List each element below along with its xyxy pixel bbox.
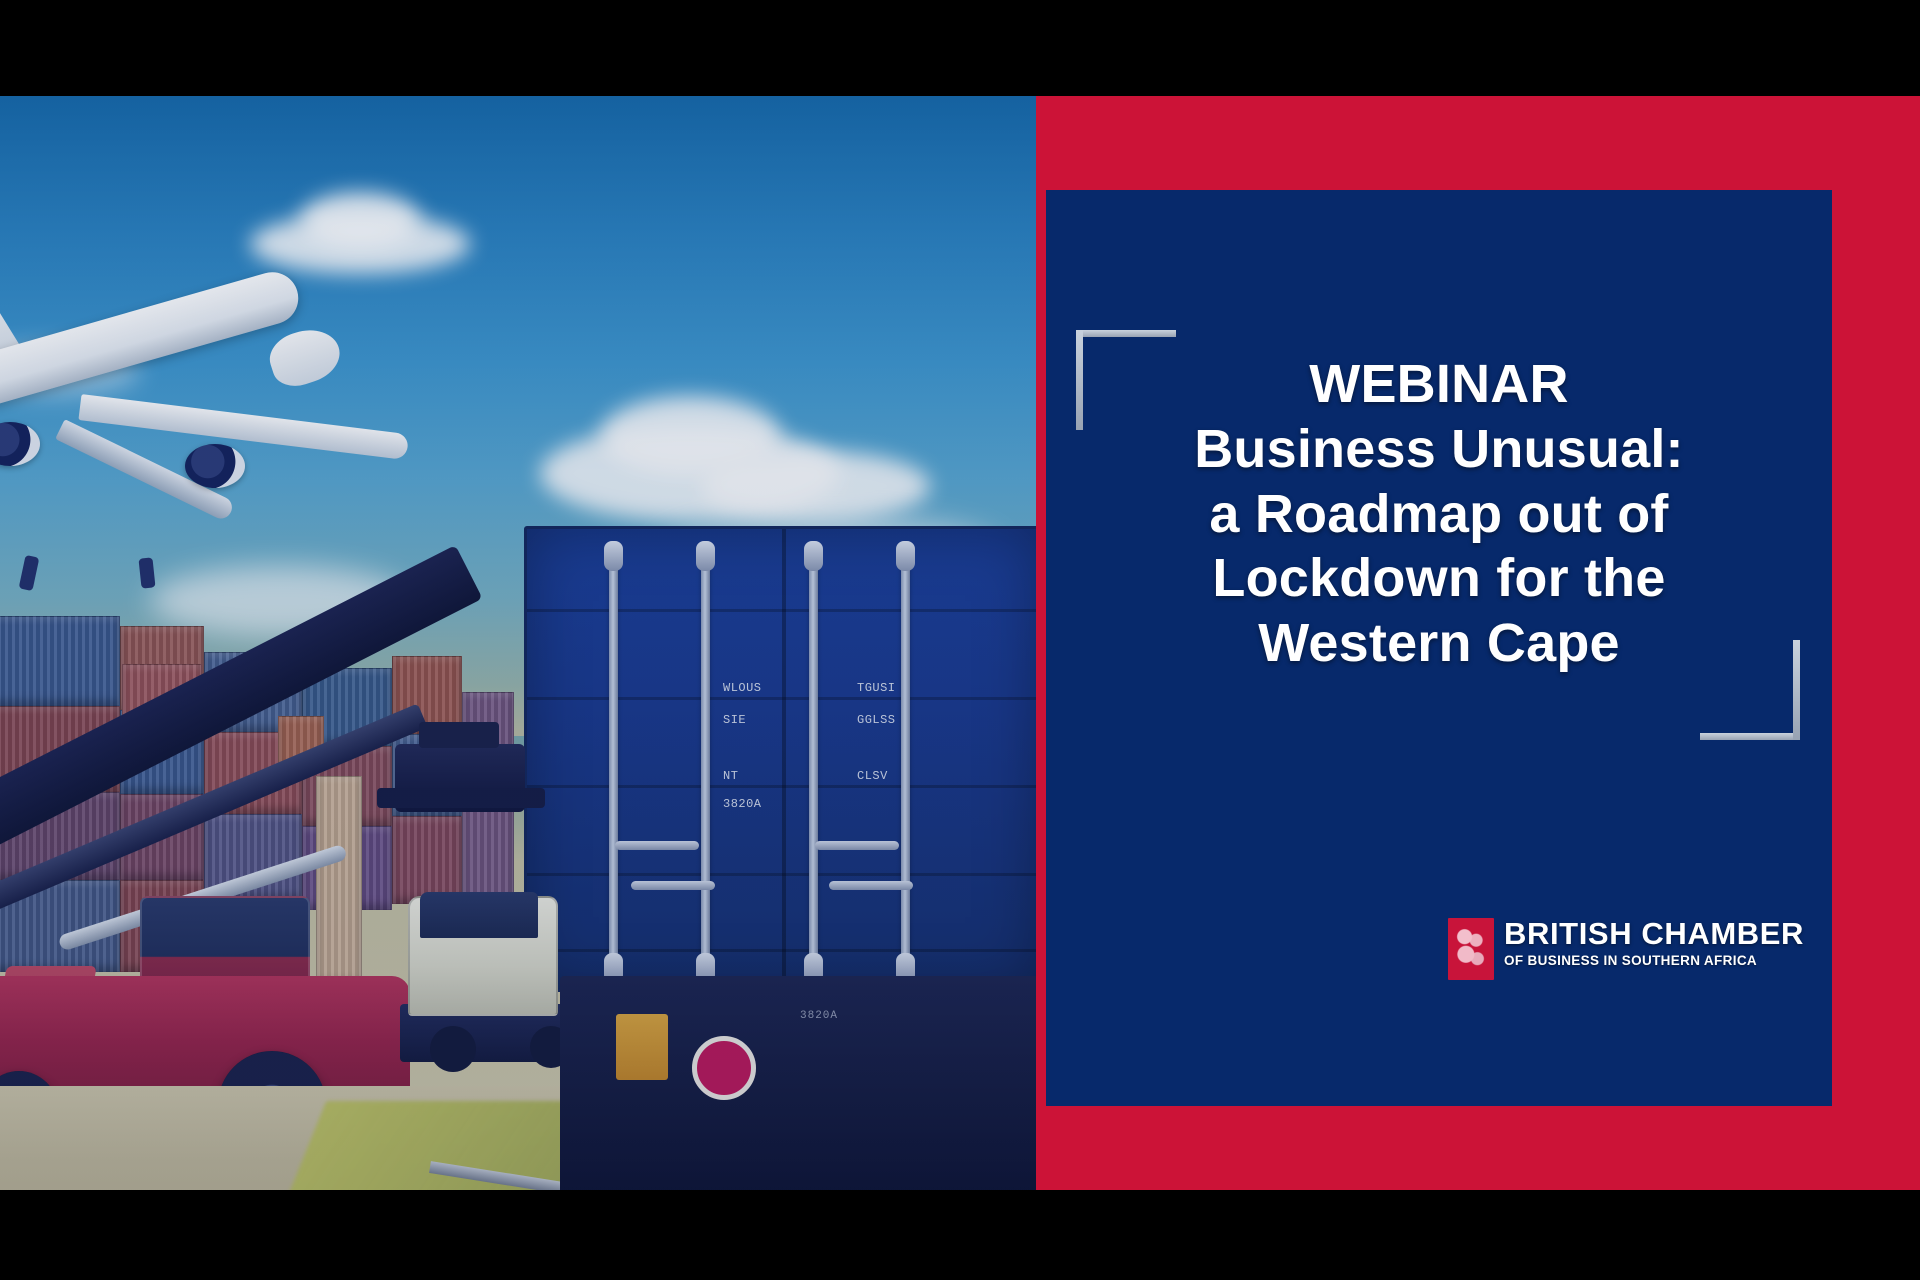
cloud — [700, 451, 930, 521]
hazard-placard — [616, 1014, 668, 1080]
page-title: WEBINAR Business Unusual: a Roadmap out … — [1046, 352, 1832, 676]
title-lead: WEBINAR — [1046, 352, 1832, 417]
truck-windshield — [420, 892, 538, 938]
title-line-1: Business Unusual: — [1194, 419, 1684, 479]
container-stencil-code: SIE — [723, 713, 746, 727]
airplane — [0, 236, 440, 506]
airplane-engine — [0, 422, 40, 466]
container-locking-rod — [701, 547, 710, 977]
airplane-engine — [185, 444, 245, 488]
container-stencil-code: NT — [723, 769, 738, 783]
container-locking-rod — [609, 547, 618, 977]
rail-car-marker-disc — [692, 1036, 756, 1100]
airplane-nose — [264, 321, 347, 392]
container-stencil-code: 3820A — [723, 797, 762, 811]
container-locking-rod — [809, 547, 818, 977]
airplane-landing-gear — [138, 557, 155, 588]
truck-wheel — [430, 1026, 476, 1072]
organisation-logo: BRITISH CHAMBER OF BUSINESS IN SOUTHERN … — [1448, 918, 1836, 994]
blue-container: WLOUS TGUSI SIE GGLSS NT CLSV 3820A — [524, 526, 1040, 992]
rail-car: 3820A — [560, 976, 1040, 1190]
container-stencil-code: TGUSI — [857, 681, 896, 695]
container-stencil-code: GGLSS — [857, 713, 896, 727]
crane-spreader — [395, 744, 525, 812]
webinar-promo-slide: WLOUS TGUSI SIE GGLSS NT CLSV 3820A — [0, 0, 1920, 1280]
container-stencil-code: CLSV — [857, 769, 888, 783]
title-line-4: Western Cape — [1258, 613, 1620, 673]
title-line-2: a Roadmap out of — [1209, 484, 1668, 544]
letterbox-bar-bottom — [0, 1190, 1920, 1280]
airplane-fuselage — [0, 266, 304, 407]
logo-wordmark: BRITISH CHAMBER OF BUSINESS IN SOUTHERN … — [1504, 918, 1804, 968]
container-stencil-code: WLOUS — [723, 681, 762, 695]
letterbox-bar-top — [0, 0, 1920, 96]
chamber-crest-icon — [1448, 918, 1494, 980]
container-locking-rod — [901, 547, 910, 977]
title-line-3: Lockdown for the — [1212, 548, 1665, 608]
logistics-photo: WLOUS TGUSI SIE GGLSS NT CLSV 3820A — [0, 96, 1040, 1190]
logo-sub-text: OF BUSINESS IN SOUTHERN AFRICA — [1504, 954, 1804, 968]
rail-car-marking: 3820A — [800, 1010, 838, 1022]
logo-main-text: BRITISH CHAMBER — [1504, 918, 1804, 949]
